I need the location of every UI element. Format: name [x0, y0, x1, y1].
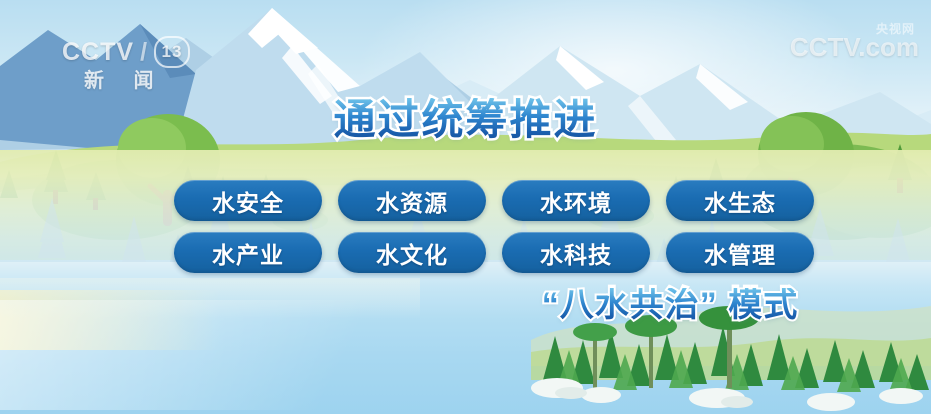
caption-fill: “八水共治” 模式: [542, 288, 798, 324]
headline-fill: 通过统筹推进: [333, 98, 597, 142]
pill-water-environment[interactable]: 水环境: [502, 180, 650, 221]
headline-text-wrap: 通过统筹推进 通过统筹推进: [333, 98, 597, 142]
broadcast-frame: CCTV / 13 新 闻 央视网 CCTV.com 通过统筹推进 通过统筹推进…: [0, 0, 931, 414]
pill-water-culture[interactable]: 水文化: [338, 232, 486, 273]
pill-water-management[interactable]: 水管理: [666, 232, 814, 273]
pill-water-industry[interactable]: 水产业: [174, 232, 322, 273]
headline: 通过统筹推进 通过统筹推进: [0, 98, 931, 142]
footer-caption: “八水共治” 模式 “八水共治” 模式: [480, 288, 860, 324]
pill-water-ecology[interactable]: 水生态: [666, 180, 814, 221]
pill-water-safety[interactable]: 水安全: [174, 180, 322, 221]
left-shore-haze: [0, 278, 420, 318]
pill-water-resources[interactable]: 水资源: [338, 180, 486, 221]
caption-text-wrap: “八水共治” 模式 “八水共治” 模式: [542, 288, 798, 324]
pill-water-technology[interactable]: 水科技: [502, 232, 650, 273]
water-topics-grid: 水安全 水资源 水环境 水生态 水产业 水文化 水科技 水管理: [174, 180, 814, 273]
